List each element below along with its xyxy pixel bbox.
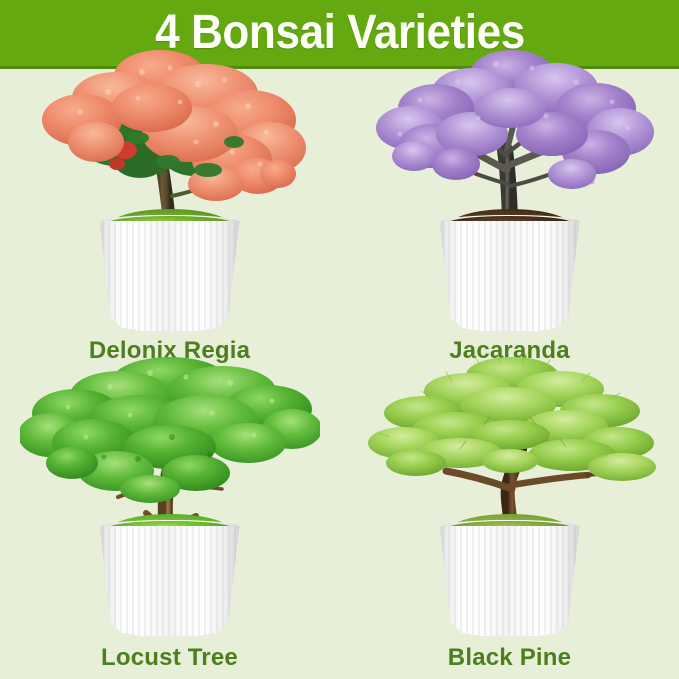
- plant-photo-locust-tree: [0, 374, 339, 636]
- plant-photo-jacaranda: [340, 69, 679, 331]
- plant-pot-locust-tree: [100, 520, 240, 636]
- locust-tree-illustration: [20, 351, 320, 536]
- pot-ribs: [440, 221, 580, 331]
- jacaranda-tree-illustration: [360, 46, 660, 231]
- plant-card-delonix-regia[interactable]: Delonix Regia: [0, 69, 339, 374]
- pot-ribs: [100, 221, 240, 331]
- plant-label-black-pine: Black Pine: [340, 645, 679, 671]
- plant-card-black-pine[interactable]: Black Pine: [340, 374, 679, 679]
- pot-ribs: [100, 526, 240, 636]
- black-pine-tree-illustration: [360, 351, 660, 536]
- bonsai-varieties-poster: 4 Bonsai Varieties: [0, 0, 679, 679]
- plant-photo-delonix-regia: [0, 69, 339, 331]
- plant-label-locust-tree: Locust Tree: [0, 645, 339, 671]
- plant-card-locust-tree[interactable]: Locust Tree: [0, 374, 339, 679]
- plant-pot-black-pine: [440, 520, 580, 636]
- pot-ribs: [440, 526, 580, 636]
- plant-photo-black-pine: [340, 374, 679, 636]
- delonix-regia-tree-illustration: [20, 46, 320, 231]
- plant-card-jacaranda[interactable]: Jacaranda: [340, 69, 679, 374]
- plant-pot-jacaranda: [440, 215, 580, 331]
- plant-pot-delonix-regia: [100, 215, 240, 331]
- plant-grid: Delonix Regia: [0, 69, 679, 679]
